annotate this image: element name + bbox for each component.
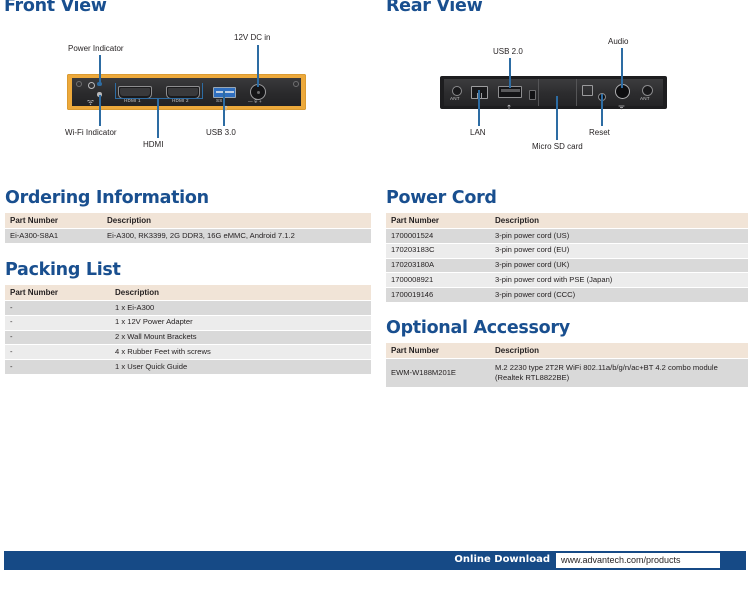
table-header-row: Part Number Description bbox=[5, 285, 371, 301]
cell-description: M.2 2230 type 2T2R WiFi 802.11a/b/g/n/ac… bbox=[490, 359, 748, 388]
ordering-information-section: Ordering Information Part Number Descrip… bbox=[5, 188, 371, 244]
cell-description: 1 x User Quick Guide bbox=[110, 360, 371, 375]
table-row: 1700008921 3-pin power cord with PSE (Ja… bbox=[386, 273, 748, 288]
power-cord-table: Part Number Description 1700001524 3-pin… bbox=[386, 213, 748, 303]
cell-part-number: - bbox=[5, 301, 110, 316]
callout-hdmi: HDMI bbox=[143, 140, 163, 150]
cell-description: 3-pin power cord (CCC) bbox=[490, 288, 748, 303]
front-screw-left bbox=[76, 81, 82, 87]
cell-part-number: 170203180A bbox=[386, 258, 490, 273]
callout-line-audio bbox=[621, 48, 623, 88]
callout-line-reset bbox=[601, 94, 603, 126]
table-row: 170203180A 3-pin power cord (UK) bbox=[386, 258, 748, 273]
cell-part-number: Ei-A300-S8A1 bbox=[5, 229, 102, 244]
callout-line-dc-in bbox=[257, 45, 259, 87]
callout-reset: Reset bbox=[589, 128, 610, 138]
cell-part-number: - bbox=[5, 345, 110, 360]
packing-list-section: Packing List Part Number Description - 1… bbox=[5, 260, 371, 375]
wifi-indicator-glyph bbox=[87, 92, 94, 97]
column-header-part-number: Part Number bbox=[386, 213, 490, 229]
antenna-right-caption: ANT bbox=[640, 96, 650, 101]
power-indicator-glyph bbox=[88, 82, 95, 89]
antenna-port-left bbox=[452, 86, 462, 96]
table-row: - 2 x Wall Mount Brackets bbox=[5, 330, 371, 345]
usb2-trident-icon bbox=[506, 97, 512, 103]
callout-wifi-indicator: Wi-Fi Indicator bbox=[65, 128, 117, 138]
callout-line-hdmi bbox=[157, 98, 159, 138]
table-row: 170203183C 3-pin power cord (EU) bbox=[386, 243, 748, 258]
front-view-diagram: HDMI 1 HDMI 2 SS — ⍟ + Power Indicator 1… bbox=[5, 18, 375, 163]
front-screw-right bbox=[293, 81, 299, 87]
online-download-label: Online Download bbox=[454, 554, 550, 565]
table-row: EWM-W188M201E M.2 2230 type 2T2R WiFi 80… bbox=[386, 359, 748, 388]
cell-part-number: - bbox=[5, 360, 110, 375]
audio-glyph bbox=[618, 98, 625, 104]
front-view-title: Front View bbox=[4, 0, 107, 16]
cell-description: 1 x 12V Power Adapter bbox=[110, 315, 371, 330]
column-header-description: Description bbox=[102, 213, 371, 229]
table-header-row: Part Number Description bbox=[386, 213, 748, 229]
column-header-description: Description bbox=[490, 343, 748, 359]
cell-part-number: 1700019146 bbox=[386, 288, 490, 303]
cell-description: 2 x Wall Mount Brackets bbox=[110, 330, 371, 345]
cell-part-number: EWM-W188M201E bbox=[386, 359, 490, 388]
packing-list-title: Packing List bbox=[5, 260, 371, 280]
optional-accessory-section: Optional Accessory Part Number Descripti… bbox=[386, 318, 748, 388]
cell-part-number: - bbox=[5, 315, 110, 330]
rear-view-diagram: ANT ANT USB 2.0 Aud bbox=[386, 18, 750, 163]
table-row: 1700001524 3-pin power cord (US) bbox=[386, 229, 748, 244]
cell-part-number: - bbox=[5, 330, 110, 345]
footer-bar: Online Download www.advantech.com/produc… bbox=[4, 551, 746, 570]
callout-usb3: USB 3.0 bbox=[206, 128, 236, 138]
cell-description: 3-pin power cord with PSE (Japan) bbox=[490, 273, 748, 288]
panel-seam-right bbox=[576, 79, 577, 106]
table-row: - 1 x Ei-A300 bbox=[5, 301, 371, 316]
callout-power-indicator: Power Indicator bbox=[68, 44, 124, 54]
callout-line-lan bbox=[478, 90, 480, 126]
power-cord-title: Power Cord bbox=[386, 188, 748, 208]
table-row: - 1 x User Quick Guide bbox=[5, 360, 371, 375]
callout-line-micro-sd bbox=[556, 96, 558, 140]
cell-description: 3-pin power cord (US) bbox=[490, 229, 748, 244]
power-cord-section: Power Cord Part Number Description 17000… bbox=[386, 188, 748, 303]
callout-lan: LAN bbox=[470, 128, 486, 138]
cell-description: 4 x Rubber Feet with screws bbox=[110, 345, 371, 360]
cell-description: 1 x Ei-A300 bbox=[110, 301, 371, 316]
packing-list-table: Part Number Description - 1 x Ei-A300 - … bbox=[5, 285, 371, 375]
usb3-port-caption: SS bbox=[216, 98, 223, 103]
micro-sd-slot bbox=[529, 90, 536, 100]
cell-description: Ei-A300, RK3399, 2G DDR3, 16G eMMC, Andr… bbox=[102, 229, 371, 244]
column-header-part-number: Part Number bbox=[5, 285, 110, 301]
cell-part-number: 170203183C bbox=[386, 243, 490, 258]
column-header-part-number: Part Number bbox=[5, 213, 102, 229]
table-row: - 1 x 12V Power Adapter bbox=[5, 315, 371, 330]
antenna-left-caption: ANT bbox=[450, 96, 460, 101]
optional-accessory-title: Optional Accessory bbox=[386, 318, 748, 338]
callout-dc-in: 12V DC in bbox=[234, 33, 270, 43]
online-download-url-box[interactable]: www.advantech.com/products bbox=[556, 553, 720, 568]
table-row: 1700019146 3-pin power cord (CCC) bbox=[386, 288, 748, 303]
cell-description: 3-pin power cord (UK) bbox=[490, 258, 748, 273]
table-row: - 4 x Rubber Feet with screws bbox=[5, 345, 371, 360]
dc-in-caption: — ⍟ + bbox=[248, 99, 262, 105]
panel-seam-left bbox=[538, 79, 539, 106]
callout-usb2: USB 2.0 bbox=[493, 47, 523, 57]
online-download-url: www.advantech.com/products bbox=[561, 555, 681, 565]
hdmi-group-bracket bbox=[115, 83, 203, 99]
column-header-description: Description bbox=[490, 213, 748, 229]
callout-line-wifi-indicator bbox=[99, 95, 101, 126]
column-header-part-number: Part Number bbox=[386, 343, 490, 359]
callout-line-usb3 bbox=[223, 91, 225, 126]
optional-accessory-table: Part Number Description EWM-W188M201E M.… bbox=[386, 343, 748, 388]
ordering-information-title: Ordering Information bbox=[5, 188, 371, 208]
cell-part-number: 1700001524 bbox=[386, 229, 490, 244]
table-header-row: Part Number Description bbox=[386, 343, 748, 359]
reset-glyph bbox=[582, 85, 593, 96]
callout-audio: Audio bbox=[608, 37, 628, 47]
callout-line-power-indicator bbox=[99, 55, 101, 83]
ordering-information-table: Part Number Description Ei-A300-S8A1 Ei-… bbox=[5, 213, 371, 244]
rear-view-title: Rear View bbox=[386, 0, 482, 16]
callout-line-usb2 bbox=[509, 58, 511, 88]
table-header-row: Part Number Description bbox=[5, 213, 371, 229]
antenna-port-right bbox=[642, 85, 653, 96]
cell-description: 3-pin power cord (EU) bbox=[490, 243, 748, 258]
column-header-description: Description bbox=[110, 285, 371, 301]
callout-micro-sd: Micro SD card bbox=[532, 142, 583, 152]
cell-part-number: 1700008921 bbox=[386, 273, 490, 288]
table-row: Ei-A300-S8A1 Ei-A300, RK3399, 2G DDR3, 1… bbox=[5, 229, 371, 244]
